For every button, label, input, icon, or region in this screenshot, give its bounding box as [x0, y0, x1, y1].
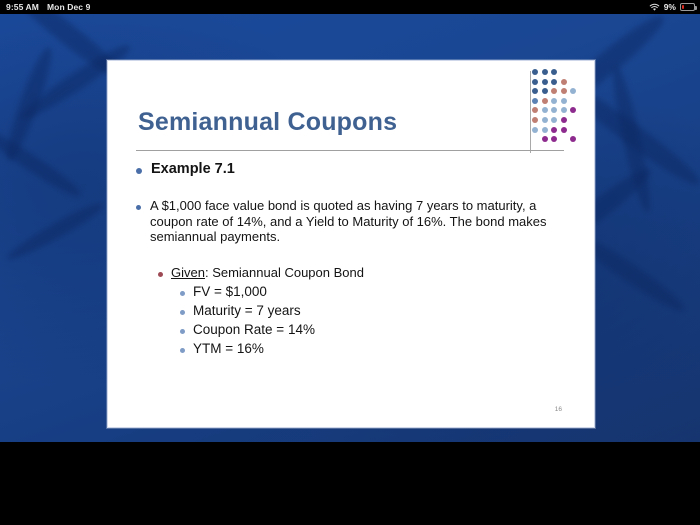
list-item: FV = $1,000 [180, 284, 582, 299]
deco-dot [561, 127, 567, 133]
example-heading: Example 7.1 [151, 161, 235, 177]
list-item: YTM = 16% [180, 341, 582, 356]
deco-dot [570, 88, 576, 94]
deco-dot [542, 69, 548, 75]
status-indicators: 9% [649, 0, 695, 14]
deco-dot [570, 107, 576, 113]
deco-dot [542, 136, 548, 142]
bullet-icon [158, 272, 163, 277]
given-item-label: Maturity = 7 years [193, 303, 301, 318]
deco-dot [542, 107, 548, 113]
deco-dot [561, 88, 567, 94]
given-row: Given: Semiannual Coupon Bond [158, 265, 582, 280]
deco-dot [551, 136, 557, 142]
example-heading-row: Example 7.1 [136, 161, 582, 177]
bullet-icon [136, 168, 142, 174]
deco-dot [551, 79, 557, 85]
dot-matrix-decoration [532, 69, 584, 153]
deco-dot [542, 98, 548, 104]
deco-dot [532, 127, 538, 133]
bullet-icon [180, 329, 185, 334]
bullet-icon [136, 205, 141, 210]
deco-dot [532, 88, 538, 94]
deco-dot [532, 117, 538, 123]
presentation-stage: Semiannual Coupons Example 7.1 A $1,000 … [0, 14, 700, 442]
deco-dot [532, 107, 538, 113]
deco-dot [551, 69, 557, 75]
bullet-icon [180, 291, 185, 296]
deco-dot [542, 79, 548, 85]
deco-dot [542, 88, 548, 94]
status-date: Mon Dec 9 [47, 2, 90, 12]
list-item: Coupon Rate = 14% [180, 322, 582, 337]
deco-dot [542, 117, 548, 123]
deco-dot [551, 88, 557, 94]
deco-dot [561, 98, 567, 104]
status-time: 9:55 AM [6, 2, 39, 12]
tablet-screen: 9:55 AM Mon Dec 9 9% [0, 0, 700, 525]
paragraph-row: A $1,000 face value bond is quoted as ha… [136, 198, 582, 245]
title-underline [136, 150, 564, 151]
battery-percent: 9% [664, 2, 676, 12]
given-item-label: FV = $1,000 [193, 284, 267, 299]
deco-dot [561, 79, 567, 85]
given-text: Given: Semiannual Coupon Bond [171, 265, 364, 280]
paragraph-text: A $1,000 face value bond is quoted as ha… [150, 198, 570, 245]
deco-dot [532, 79, 538, 85]
deco-dot [532, 69, 538, 75]
deco-dot [561, 117, 567, 123]
deco-dot [561, 107, 567, 113]
deco-dot [570, 136, 576, 142]
given-value: : Semiannual Coupon Bond [205, 265, 364, 280]
bullet-icon [180, 348, 185, 353]
vertical-rule [530, 71, 531, 153]
battery-low-icon [680, 3, 695, 11]
deco-dot [551, 117, 557, 123]
deco-dot [551, 127, 557, 133]
list-item: Maturity = 7 years [180, 303, 582, 318]
status-bar: 9:55 AM Mon Dec 9 9% [0, 0, 700, 14]
given-item-label: Coupon Rate = 14% [193, 322, 315, 337]
deco-dot [542, 127, 548, 133]
slide[interactable]: Semiannual Coupons Example 7.1 A $1,000 … [107, 60, 595, 428]
slide-number: 16 [555, 406, 562, 413]
bullet-icon [180, 310, 185, 315]
slide-title: Semiannual Coupons [138, 108, 397, 137]
given-item-label: YTM = 16% [193, 341, 264, 356]
deco-dot [532, 98, 538, 104]
deco-dot [551, 98, 557, 104]
slide-body: Example 7.1 A $1,000 face value bond is … [132, 161, 582, 356]
wifi-icon [649, 3, 660, 12]
deco-dot [551, 107, 557, 113]
given-label: Given [171, 265, 205, 280]
